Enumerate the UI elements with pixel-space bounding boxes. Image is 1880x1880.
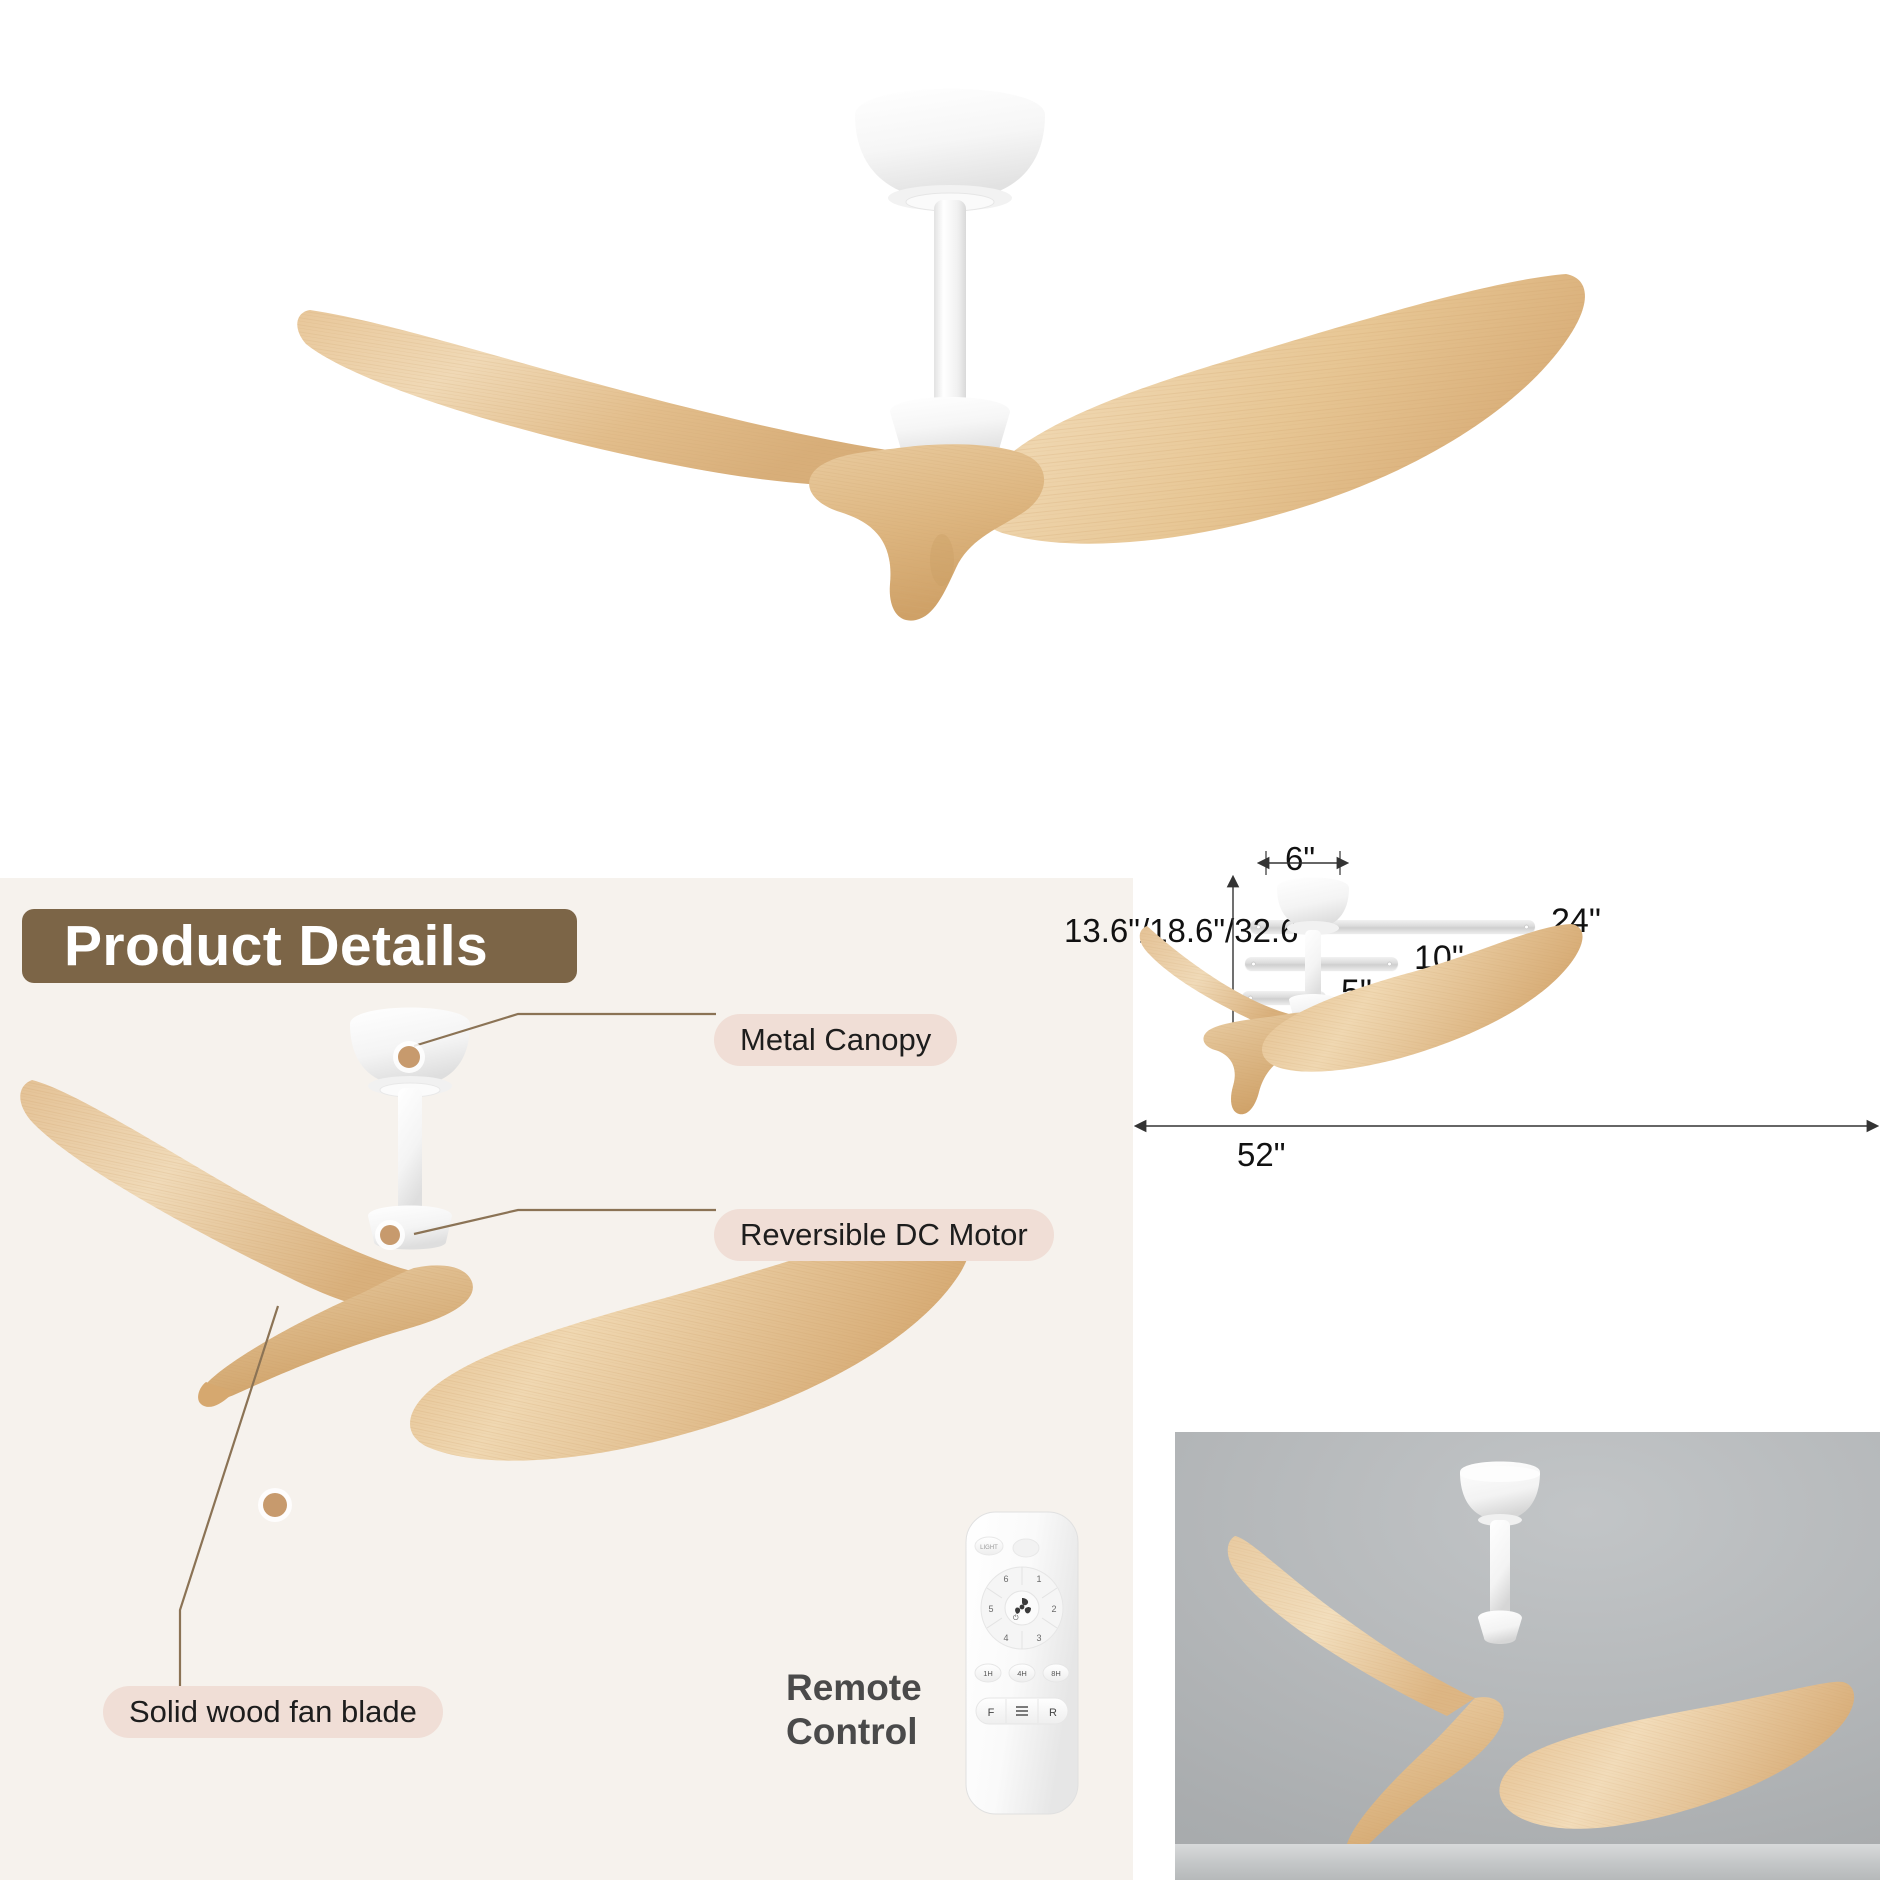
- timer-buttons[interactable]: 1H 4H 8H: [975, 1664, 1069, 1682]
- speed-6[interactable]: 6: [1003, 1574, 1008, 1584]
- product-infographic: Product Details: [0, 0, 1880, 1880]
- callout-label: Metal Canopy: [740, 1022, 931, 1058]
- blade-left: [297, 310, 902, 486]
- power-glyph: ⏻: [1013, 1614, 1019, 1622]
- callout-dot-blade: [263, 1493, 287, 1517]
- light-button-label: LIGHT: [980, 1545, 998, 1551]
- photo-fan-illustration: [1175, 1432, 1880, 1880]
- callout-solid-wood-fan-blade: Solid wood fan blade: [103, 1686, 443, 1738]
- photo-blade-front: [1343, 1697, 1504, 1864]
- timer-4h-label: 4H: [1017, 1669, 1027, 1678]
- dimension-diagram: [1133, 878, 1880, 1432]
- hero-image: [0, 0, 1880, 878]
- page-title: Product Details: [64, 913, 488, 979]
- speed-5[interactable]: 5: [988, 1604, 993, 1614]
- detail-fan-illustration: [10, 1010, 1030, 1650]
- reverse-button-label[interactable]: R: [1049, 1707, 1057, 1719]
- callout-reversible-dc-motor: Reversible DC Motor: [714, 1209, 1054, 1261]
- remote-control[interactable]: LIGHT 1 2 3 4 5 6: [962, 1508, 1090, 1818]
- photo-wall-edge: [1175, 1844, 1880, 1880]
- speed-4[interactable]: 4: [1003, 1633, 1008, 1643]
- callout-label: Reversible DC Motor: [740, 1217, 1028, 1253]
- timer-8h-label: 8H: [1051, 1669, 1061, 1678]
- photo-downrod: [1490, 1520, 1510, 1618]
- photo-motor: [1478, 1611, 1522, 1645]
- callout-label: Solid wood fan blade: [129, 1694, 417, 1730]
- canopy: [855, 89, 1045, 211]
- photo-blade-right: [1499, 1682, 1854, 1829]
- speed-3[interactable]: 3: [1036, 1633, 1041, 1643]
- product-details-title: Product Details: [22, 909, 577, 983]
- speed-dial[interactable]: 1 2 3 4 5 6 ⏻: [981, 1567, 1063, 1649]
- timer-1h-label: 1H: [983, 1669, 993, 1678]
- callout-dot-canopy: [398, 1046, 420, 1068]
- dimension-fan-illustration: [1140, 878, 1583, 1115]
- direction-buttons[interactable]: F R: [976, 1698, 1068, 1724]
- forward-button-label[interactable]: F: [988, 1707, 995, 1719]
- blade-right: [976, 274, 1584, 544]
- photo-blade-left: [1228, 1536, 1475, 1716]
- hero-fan-illustration: [200, 60, 1680, 640]
- callout-metal-canopy: Metal Canopy: [714, 1014, 957, 1066]
- detail-downrod: [398, 1088, 422, 1218]
- power-button[interactable]: [1013, 1539, 1039, 1557]
- canopy-width-label: 6": [1285, 840, 1315, 878]
- downrod: [934, 200, 966, 412]
- remote-control-label: Remote Control: [786, 1666, 922, 1753]
- callout-dot-motor: [380, 1225, 400, 1245]
- remote-body[interactable]: [966, 1512, 1078, 1814]
- speed-2[interactable]: 2: [1051, 1604, 1056, 1614]
- leader-dc-motor: [414, 1210, 716, 1234]
- remote-title-line1: Remote: [786, 1666, 922, 1710]
- speed-1[interactable]: 1: [1036, 1574, 1041, 1584]
- detail-blade-left: [20, 1080, 416, 1313]
- remote-title-line2: Control: [786, 1710, 922, 1754]
- installed-fan-photo: [1175, 1432, 1880, 1880]
